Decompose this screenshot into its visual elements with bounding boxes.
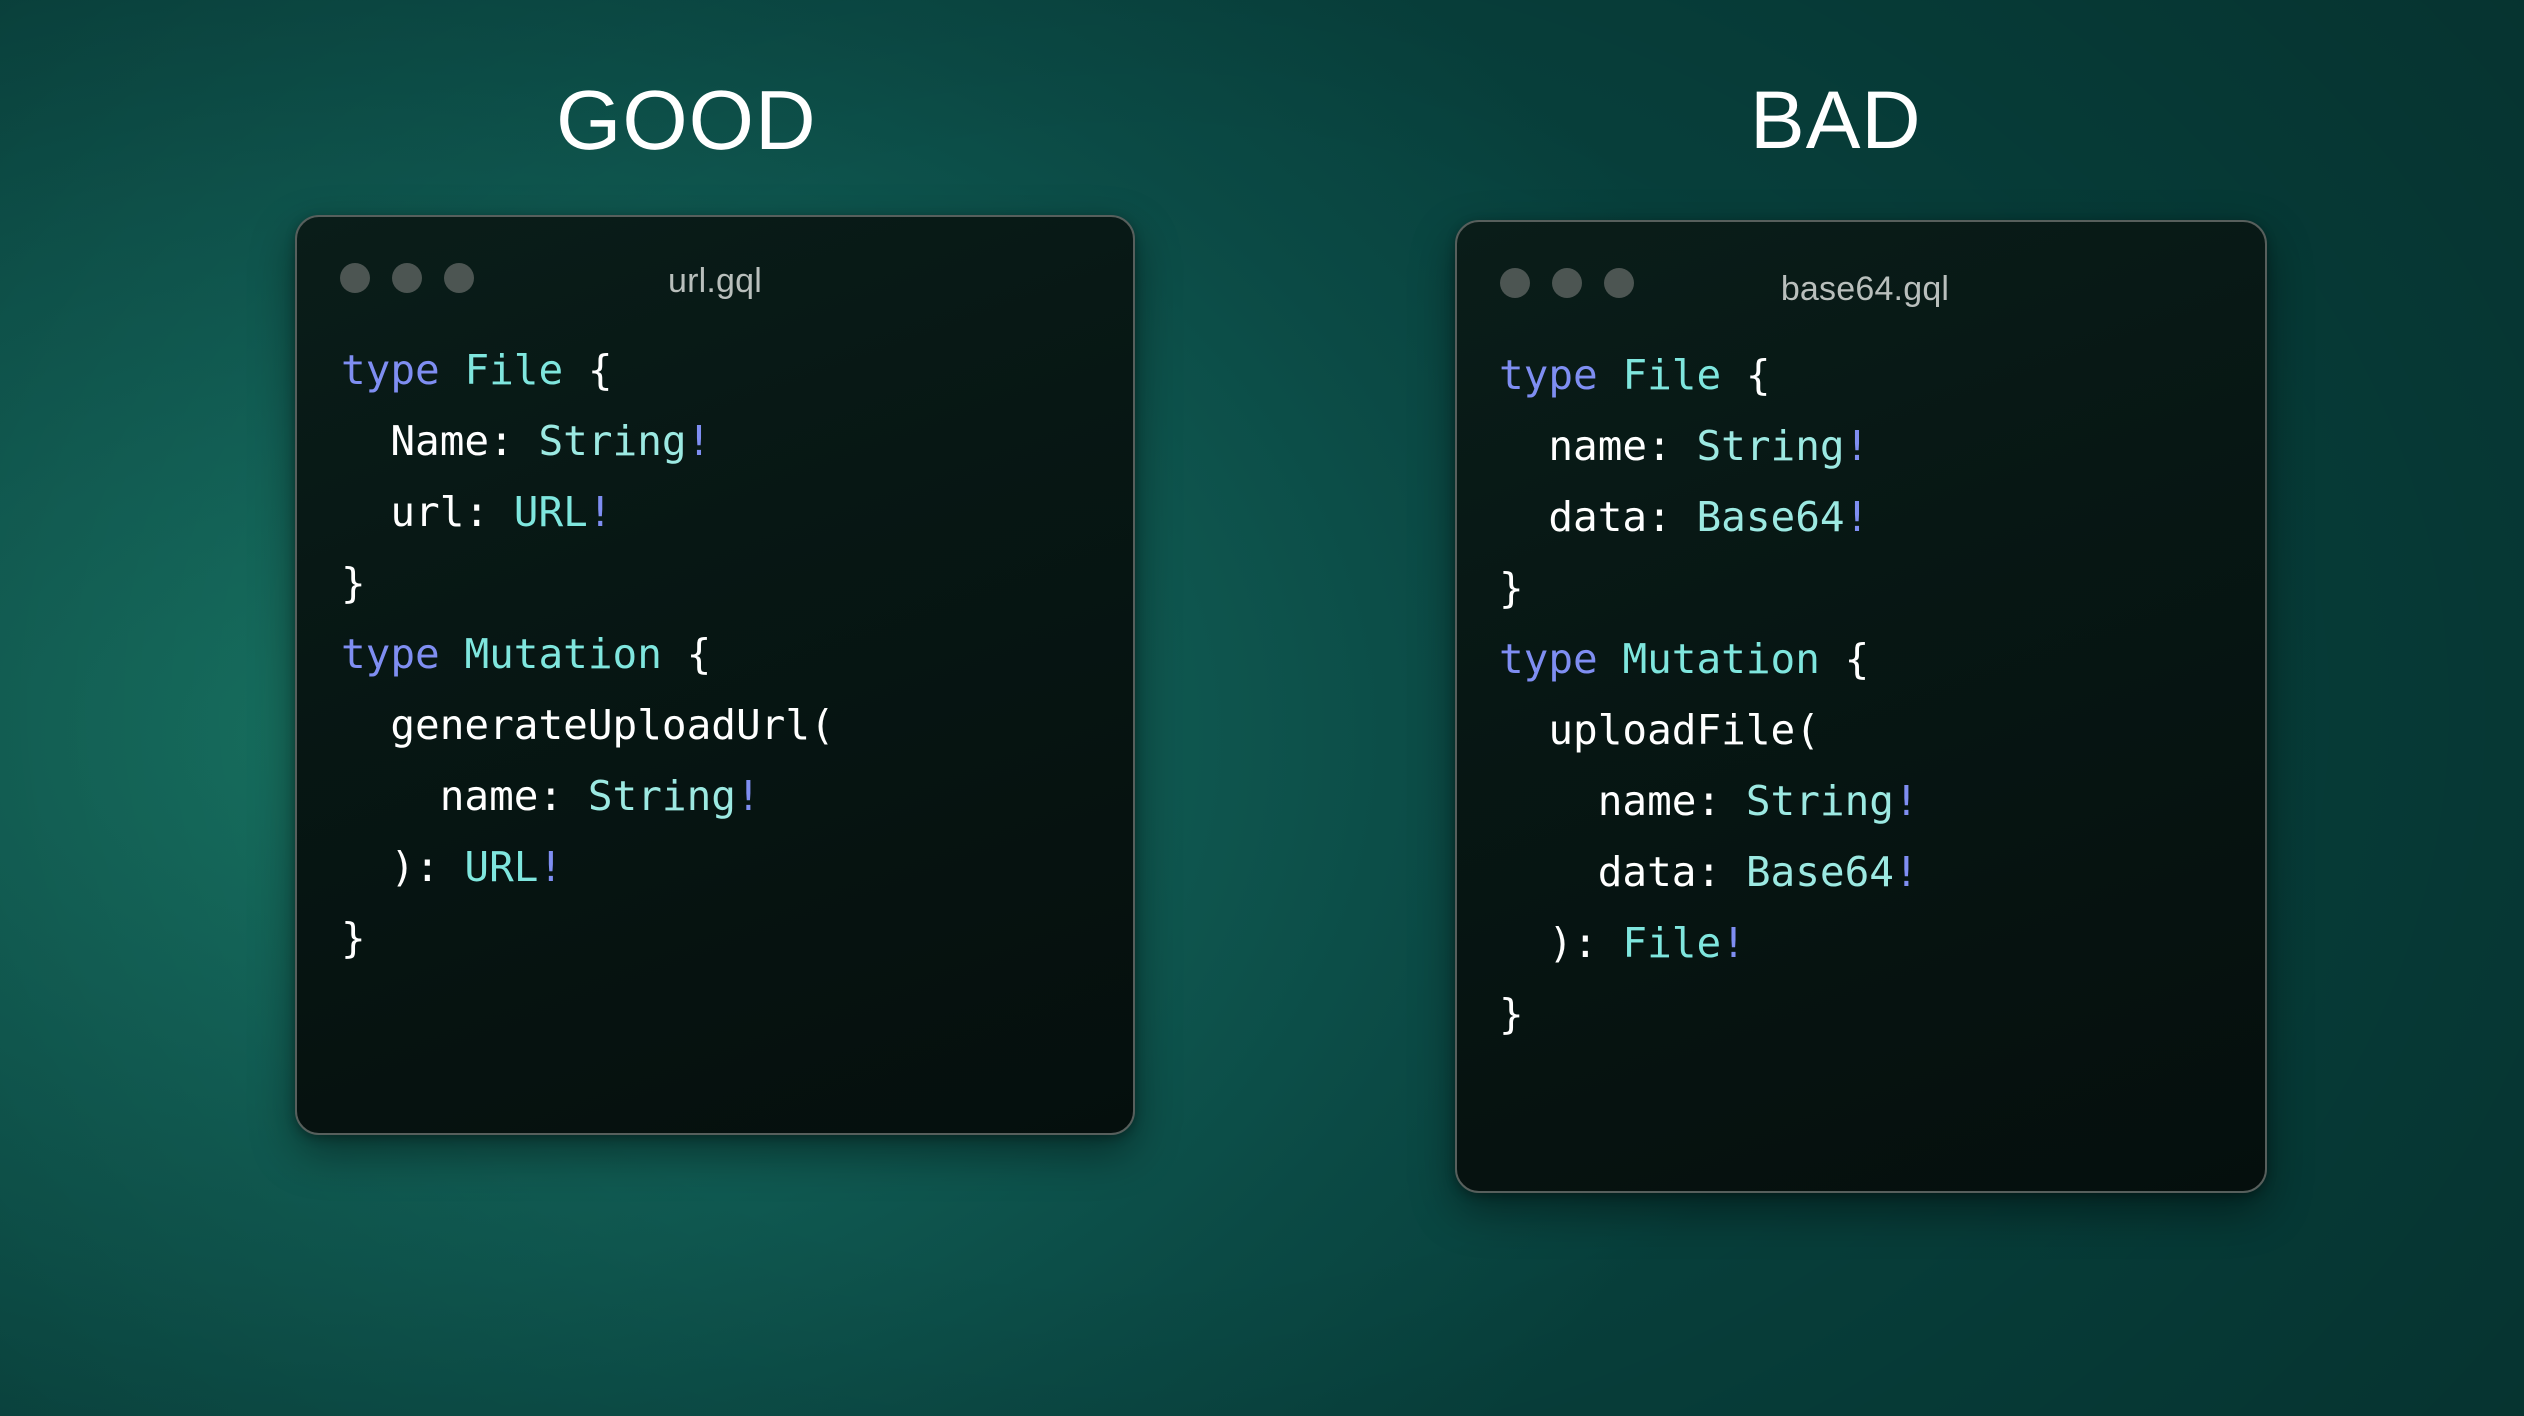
code-token: Base64	[1746, 848, 1894, 896]
code-line: data: Base64!	[1499, 837, 2265, 908]
code-token: type	[1499, 635, 1598, 683]
filename-label-bad: base64.gql	[1457, 272, 2265, 306]
code-line: uploadFile(	[1499, 695, 2265, 766]
code-token: !	[1894, 848, 1919, 896]
filename-label-good: url.gql	[297, 264, 1133, 298]
code-token	[1598, 635, 1623, 683]
code-token: }	[1499, 990, 1524, 1038]
code-token: {	[1721, 351, 1770, 399]
code-token: !	[1845, 493, 1870, 541]
code-line: type File {	[1499, 340, 2265, 411]
code-token: data:	[1499, 848, 1746, 896]
heading-bad: BAD	[1750, 80, 1922, 162]
code-token: Mutation	[464, 630, 661, 678]
code-line: type Mutation {	[1499, 624, 2265, 695]
code-token: Base64	[1696, 493, 1844, 541]
code-line: ): File!	[1499, 908, 2265, 979]
code-token: !	[736, 772, 761, 820]
code-line: name: String!	[1499, 411, 2265, 482]
code-token: name:	[341, 772, 588, 820]
code-line: name: String!	[341, 761, 1133, 832]
code-token: URL	[464, 843, 538, 891]
code-token: URL	[514, 488, 588, 536]
code-token: name:	[1499, 777, 1746, 825]
code-window-bad: base64.gql type File { name: String! dat…	[1455, 220, 2267, 1193]
code-token: String	[538, 417, 686, 465]
code-line: type File {	[341, 335, 1133, 406]
code-token	[440, 346, 465, 394]
code-line: generateUploadUrl(	[341, 690, 1133, 761]
code-token: }	[1499, 564, 1524, 612]
code-line: url: URL!	[341, 477, 1133, 548]
code-line: }	[1499, 553, 2265, 624]
code-token: ):	[341, 843, 464, 891]
code-token: }	[341, 914, 366, 962]
code-token: data:	[1499, 493, 1696, 541]
code-token: generateUploadUrl(	[341, 701, 835, 749]
code-token: Mutation	[1622, 635, 1819, 683]
code-token: {	[1820, 635, 1869, 683]
code-token: !	[687, 417, 712, 465]
code-token: {	[563, 346, 612, 394]
window-titlebar-good: url.gql	[297, 217, 1133, 313]
code-token: }	[341, 559, 366, 607]
window-titlebar-bad: base64.gql	[1457, 222, 2265, 318]
code-block-good: type File { Name: String! url: URL!}type…	[297, 313, 1133, 974]
code-token: !	[1845, 422, 1870, 470]
code-token: uploadFile(	[1499, 706, 1820, 754]
code-token	[1598, 351, 1623, 399]
code-token: File	[1622, 351, 1721, 399]
code-block-bad: type File { name: String! data: Base64!}…	[1457, 318, 2265, 1050]
code-line: data: Base64!	[1499, 482, 2265, 553]
code-token: Name:	[341, 417, 538, 465]
code-token: String	[1746, 777, 1894, 825]
code-token: String	[588, 772, 736, 820]
code-token: ):	[1499, 919, 1622, 967]
code-token: type	[341, 630, 440, 678]
code-line: type Mutation {	[341, 619, 1133, 690]
code-token: {	[662, 630, 711, 678]
code-token: File	[464, 346, 563, 394]
code-token: !	[1894, 777, 1919, 825]
code-token: type	[1499, 351, 1598, 399]
code-line: }	[341, 903, 1133, 974]
code-token: url:	[341, 488, 514, 536]
code-token: !	[1721, 919, 1746, 967]
code-token	[440, 630, 465, 678]
code-line: }	[341, 548, 1133, 619]
code-line: name: String!	[1499, 766, 2265, 837]
code-window-good: url.gql type File { Name: String! url: U…	[295, 215, 1135, 1135]
code-token: !	[588, 488, 613, 536]
code-line: Name: String!	[341, 406, 1133, 477]
code-token: type	[341, 346, 440, 394]
code-token: String	[1696, 422, 1844, 470]
code-line: }	[1499, 979, 2265, 1050]
code-line: ): URL!	[341, 832, 1133, 903]
code-token: !	[538, 843, 563, 891]
code-token: name:	[1499, 422, 1696, 470]
code-token: File	[1622, 919, 1721, 967]
heading-good: GOOD	[556, 78, 817, 162]
